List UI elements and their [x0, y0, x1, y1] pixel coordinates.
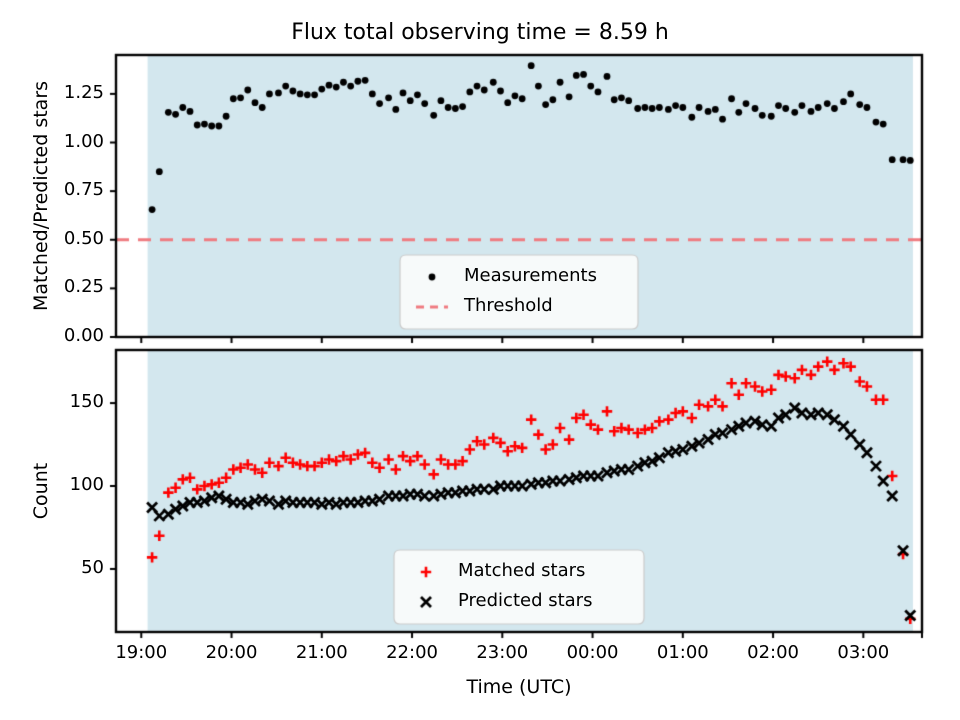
plot-canvas[interactable]	[0, 0, 960, 720]
figure-container: Flux total observing time = 8.59 h 0.000…	[0, 0, 960, 720]
